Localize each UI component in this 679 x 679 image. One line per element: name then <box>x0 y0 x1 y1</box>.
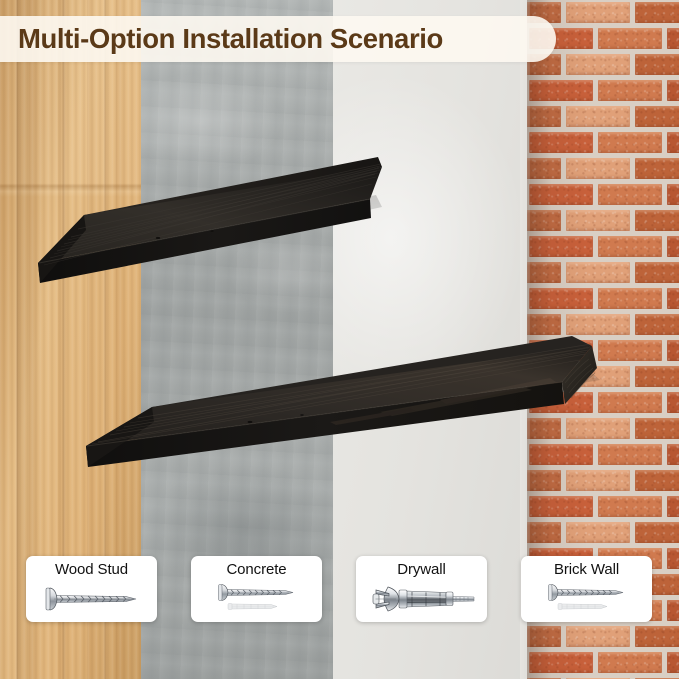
brick-row <box>527 52 679 78</box>
brick <box>527 106 561 127</box>
installation-options-row: Wood Stud <box>0 556 679 624</box>
brick <box>529 652 593 673</box>
brick <box>635 262 679 283</box>
brick-row <box>527 650 679 676</box>
screw-plug-icon <box>531 582 643 616</box>
screw-icon <box>36 582 148 616</box>
brick <box>527 210 561 231</box>
brick <box>566 106 630 127</box>
option-card-concrete[interactable]: Concrete <box>191 556 322 622</box>
brick <box>667 236 679 257</box>
brick-row <box>527 260 679 286</box>
product-image-scene: Multi-Option Installation Scenario Wood … <box>0 0 679 679</box>
option-label: Wood Stud <box>55 560 128 580</box>
brick <box>566 210 630 231</box>
brick <box>527 626 561 647</box>
brick <box>566 262 630 283</box>
brick <box>527 522 561 543</box>
brick <box>635 470 679 491</box>
brick-row <box>527 104 679 130</box>
title-banner: Multi-Option Installation Scenario <box>0 16 556 62</box>
option-card-brick-wall[interactable]: Brick Wall <box>521 556 652 622</box>
molly-bolt-icon <box>366 582 478 616</box>
brick <box>566 158 630 179</box>
brick <box>527 262 561 283</box>
brick <box>527 158 561 179</box>
brick <box>667 132 679 153</box>
brick <box>667 184 679 205</box>
option-card-wood-stud[interactable]: Wood Stud <box>26 556 157 622</box>
brick <box>527 470 561 491</box>
brick <box>529 236 593 257</box>
brick <box>635 210 679 231</box>
brick <box>566 54 630 75</box>
brick-row <box>527 286 679 312</box>
brick-row <box>527 182 679 208</box>
option-label: Concrete <box>226 560 286 580</box>
brick-row <box>527 234 679 260</box>
brick <box>667 340 679 361</box>
brick <box>598 652 662 673</box>
brick <box>598 496 662 517</box>
brick <box>635 418 679 439</box>
brick <box>598 288 662 309</box>
brick <box>667 444 679 465</box>
brick-row <box>527 130 679 156</box>
screw-plug-icon <box>201 582 313 616</box>
brick <box>667 496 679 517</box>
brick-row <box>527 78 679 104</box>
brick <box>598 184 662 205</box>
option-card-drywall[interactable]: Drywall <box>356 556 487 622</box>
brick <box>529 80 593 101</box>
brick <box>667 288 679 309</box>
brick-row <box>527 208 679 234</box>
brick <box>635 106 679 127</box>
brick-row <box>527 468 679 494</box>
brick-row <box>527 156 679 182</box>
brick <box>635 522 679 543</box>
page-title: Multi-Option Installation Scenario <box>18 23 443 55</box>
brick <box>529 132 593 153</box>
brick <box>529 184 593 205</box>
brick <box>566 2 630 23</box>
option-label: Brick Wall <box>554 560 619 580</box>
brick <box>635 626 679 647</box>
brick <box>635 158 679 179</box>
option-label: Drywall <box>397 560 445 580</box>
brick <box>529 496 593 517</box>
brick <box>635 54 679 75</box>
brick-row <box>527 0 679 26</box>
brick-row <box>527 520 679 546</box>
brick <box>566 470 630 491</box>
lower-shelf <box>80 330 635 470</box>
brick-row <box>527 494 679 520</box>
brick <box>529 288 593 309</box>
upper-shelf <box>30 155 385 290</box>
brick <box>566 522 630 543</box>
brick <box>667 28 679 49</box>
brick <box>635 366 679 387</box>
brick <box>598 80 662 101</box>
brick <box>667 392 679 413</box>
brick <box>667 80 679 101</box>
brick <box>598 132 662 153</box>
brick <box>635 314 679 335</box>
brick <box>598 28 662 49</box>
brick <box>635 2 679 23</box>
brick <box>566 626 630 647</box>
brick <box>598 236 662 257</box>
brick <box>667 652 679 673</box>
brick-row <box>527 624 679 650</box>
